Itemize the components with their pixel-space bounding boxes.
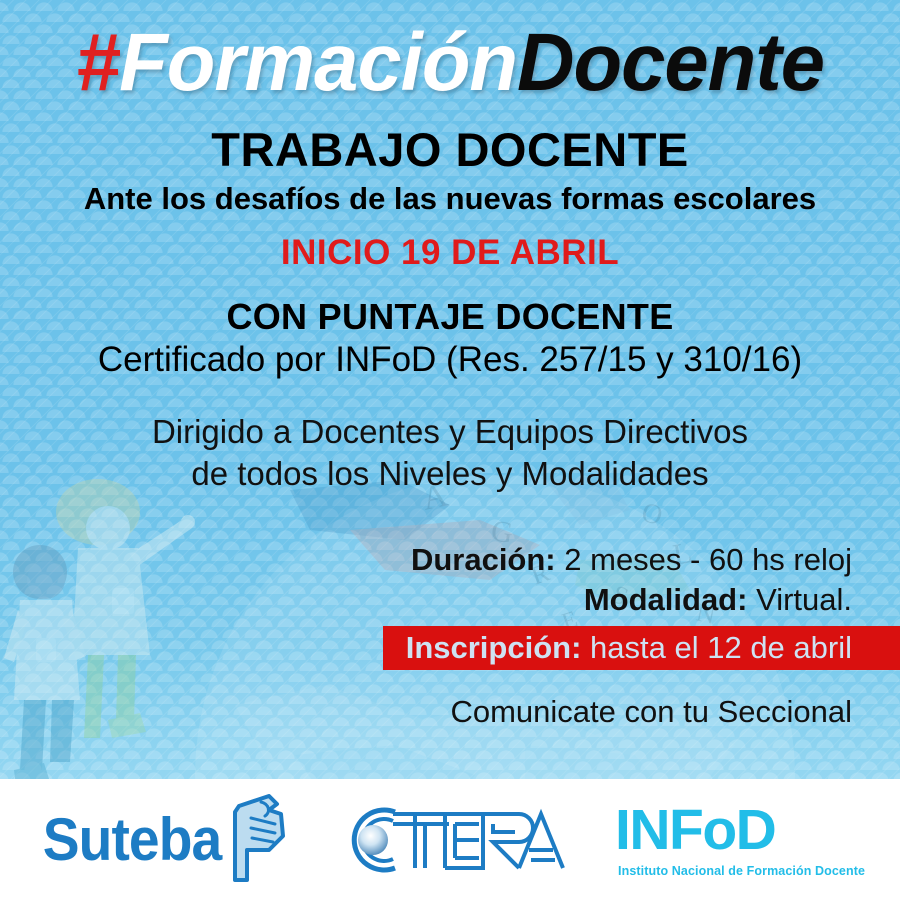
course-details: Duración: 2 meses - 60 hs reloj Modalida… <box>411 540 852 619</box>
duration-row: Duración: 2 meses - 60 hs reloj <box>411 540 852 580</box>
logo-infod: INFoD Instituto Nacional de Formación Do… <box>615 802 865 878</box>
audience-line-1: Dirigido a Docentes y Equipos Directivos <box>0 411 900 453</box>
modality-value: Virtual. <box>756 582 852 617</box>
start-date: INICIO 19 DE ABRIL <box>0 235 900 270</box>
suteba-wordmark: Suteba <box>43 810 222 870</box>
course-subtitle: Ante los desafíos de las nuevas formas e… <box>0 183 900 214</box>
enrollment-text: Inscripción: hasta el 12 de abril <box>406 631 852 665</box>
duration-value: 2 meses - 60 hs reloj <box>564 542 852 577</box>
poster-content: #FormaciónDocente TRABAJO DOCENTE Ante l… <box>0 0 900 900</box>
enrollment-value: hasta el 12 de abril <box>590 630 852 665</box>
title-hashtag: # <box>76 17 119 108</box>
certification-note: Certificado por INFoD (Res. 257/15 y 310… <box>0 342 900 377</box>
modality-row: Modalidad: Virtual. <box>411 580 852 620</box>
modality-label: Modalidad: <box>584 582 748 617</box>
enrollment-label: Inscripción: <box>406 630 582 665</box>
audience-line-2: de todos los Niveles y Modalidades <box>0 453 900 495</box>
title-formacion: Formación <box>119 17 517 108</box>
duration-label: Duración: <box>411 542 556 577</box>
title-docente: Docente <box>517 17 824 108</box>
logo-suteba: Suteba <box>35 792 287 888</box>
suteba-flag-icon <box>225 792 287 884</box>
footer-logo-bar: Suteba <box>0 779 900 900</box>
contact-note: Comunicate con tu Seccional <box>450 696 852 727</box>
ctera-wordmark-icon <box>333 802 569 878</box>
credit-note: CON PUNTAJE DOCENTE <box>0 299 900 335</box>
poster: A G R O L S E N <box>0 0 900 900</box>
course-name: TRABAJO DOCENTE <box>0 126 900 173</box>
logo-ctera <box>333 802 569 878</box>
audience-block: Dirigido a Docentes y Equipos Directivos… <box>0 411 900 494</box>
poster-title: #FormaciónDocente <box>14 22 887 104</box>
infod-wordmark: INFoD <box>615 802 775 859</box>
infod-subtitle: Instituto Nacional de Formación Docente <box>615 864 865 878</box>
